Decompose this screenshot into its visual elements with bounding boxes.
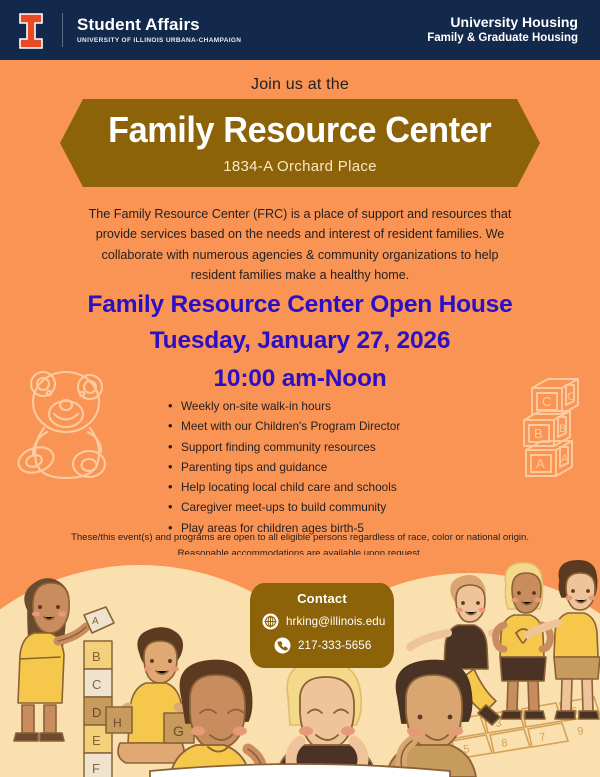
svg-text:E: E [92,733,101,748]
svg-text:A: A [561,453,569,465]
svg-text:D: D [92,705,101,720]
contact-email-row[interactable]: hrking@illinois.edu [250,613,394,630]
brand-title: Student Affairs [77,16,241,35]
site-header: Student Affairs UNIVERSITY OF ILLINOIS U… [0,0,600,60]
contact-box: Contact hrking@illinois.edu 217-333-5656 [250,583,394,668]
brand-right: University Housing Family & Graduate Hou… [427,0,578,60]
phone-icon [274,637,291,654]
brand-left: Student Affairs UNIVERSITY OF ILLINOIS U… [77,16,241,45]
teddy-bear-outline-icon [14,358,124,480]
unit-name: University Housing [450,14,578,32]
contact-title: Contact [297,591,347,606]
event-date: Tuesday, January 27, 2026 [0,327,600,355]
svg-text:F: F [92,761,100,776]
svg-text:G: G [173,723,184,739]
statement-line-1: These/this event(s) and programs are ope… [22,530,578,546]
brand-subtitle: UNIVERSITY OF ILLINOIS URBANA-CHAMPAIGN [77,37,241,44]
svg-text:B: B [92,649,101,664]
hero-eyebrow: Join us at the [0,76,600,94]
svg-text:B: B [534,426,543,441]
contact-phone-row[interactable]: 217-333-5656 [250,637,394,654]
alphabet-blocks-outline-icon: C C B B A A [516,374,592,478]
list-item: Weekly on-site walk-in hours [168,396,468,416]
svg-text:C: C [92,677,101,692]
svg-text:A: A [92,616,99,627]
services-list: Weekly on-site walk-in hours Meet with o… [168,396,468,538]
list-item: Support finding community resources [168,437,468,457]
logo-block [0,13,62,47]
list-item: Meet with our Children's Program Directo… [168,416,468,436]
event-title: Family Resource Center Open House [0,291,600,319]
list-item: Parenting tips and guidance [168,457,468,477]
hero-banner: Family Resource Center 1834-A Orchard Pl… [60,99,540,187]
svg-text:C: C [567,391,575,403]
contact-email[interactable]: hrking@illinois.edu [286,615,385,628]
hero-address: 1834-A Orchard Place [223,158,377,175]
globe-icon [262,613,279,630]
svg-text:H: H [113,716,122,730]
list-item: Help locating local child care and schoo… [168,477,468,497]
unit-subname: Family & Graduate Housing [427,31,578,46]
svg-text:B: B [559,423,566,435]
svg-text:A: A [536,456,545,471]
list-item: Caregiver meet-ups to build community [168,497,468,517]
contact-phone[interactable]: 217-333-5656 [298,639,371,652]
header-divider [62,13,63,47]
svg-text:C: C [542,394,551,409]
intro-paragraph: The Family Resource Center (FRC) is a pl… [78,204,522,286]
hero-title: Family Resource Center [108,112,491,148]
illinois-block-i-logo-icon [19,13,43,47]
